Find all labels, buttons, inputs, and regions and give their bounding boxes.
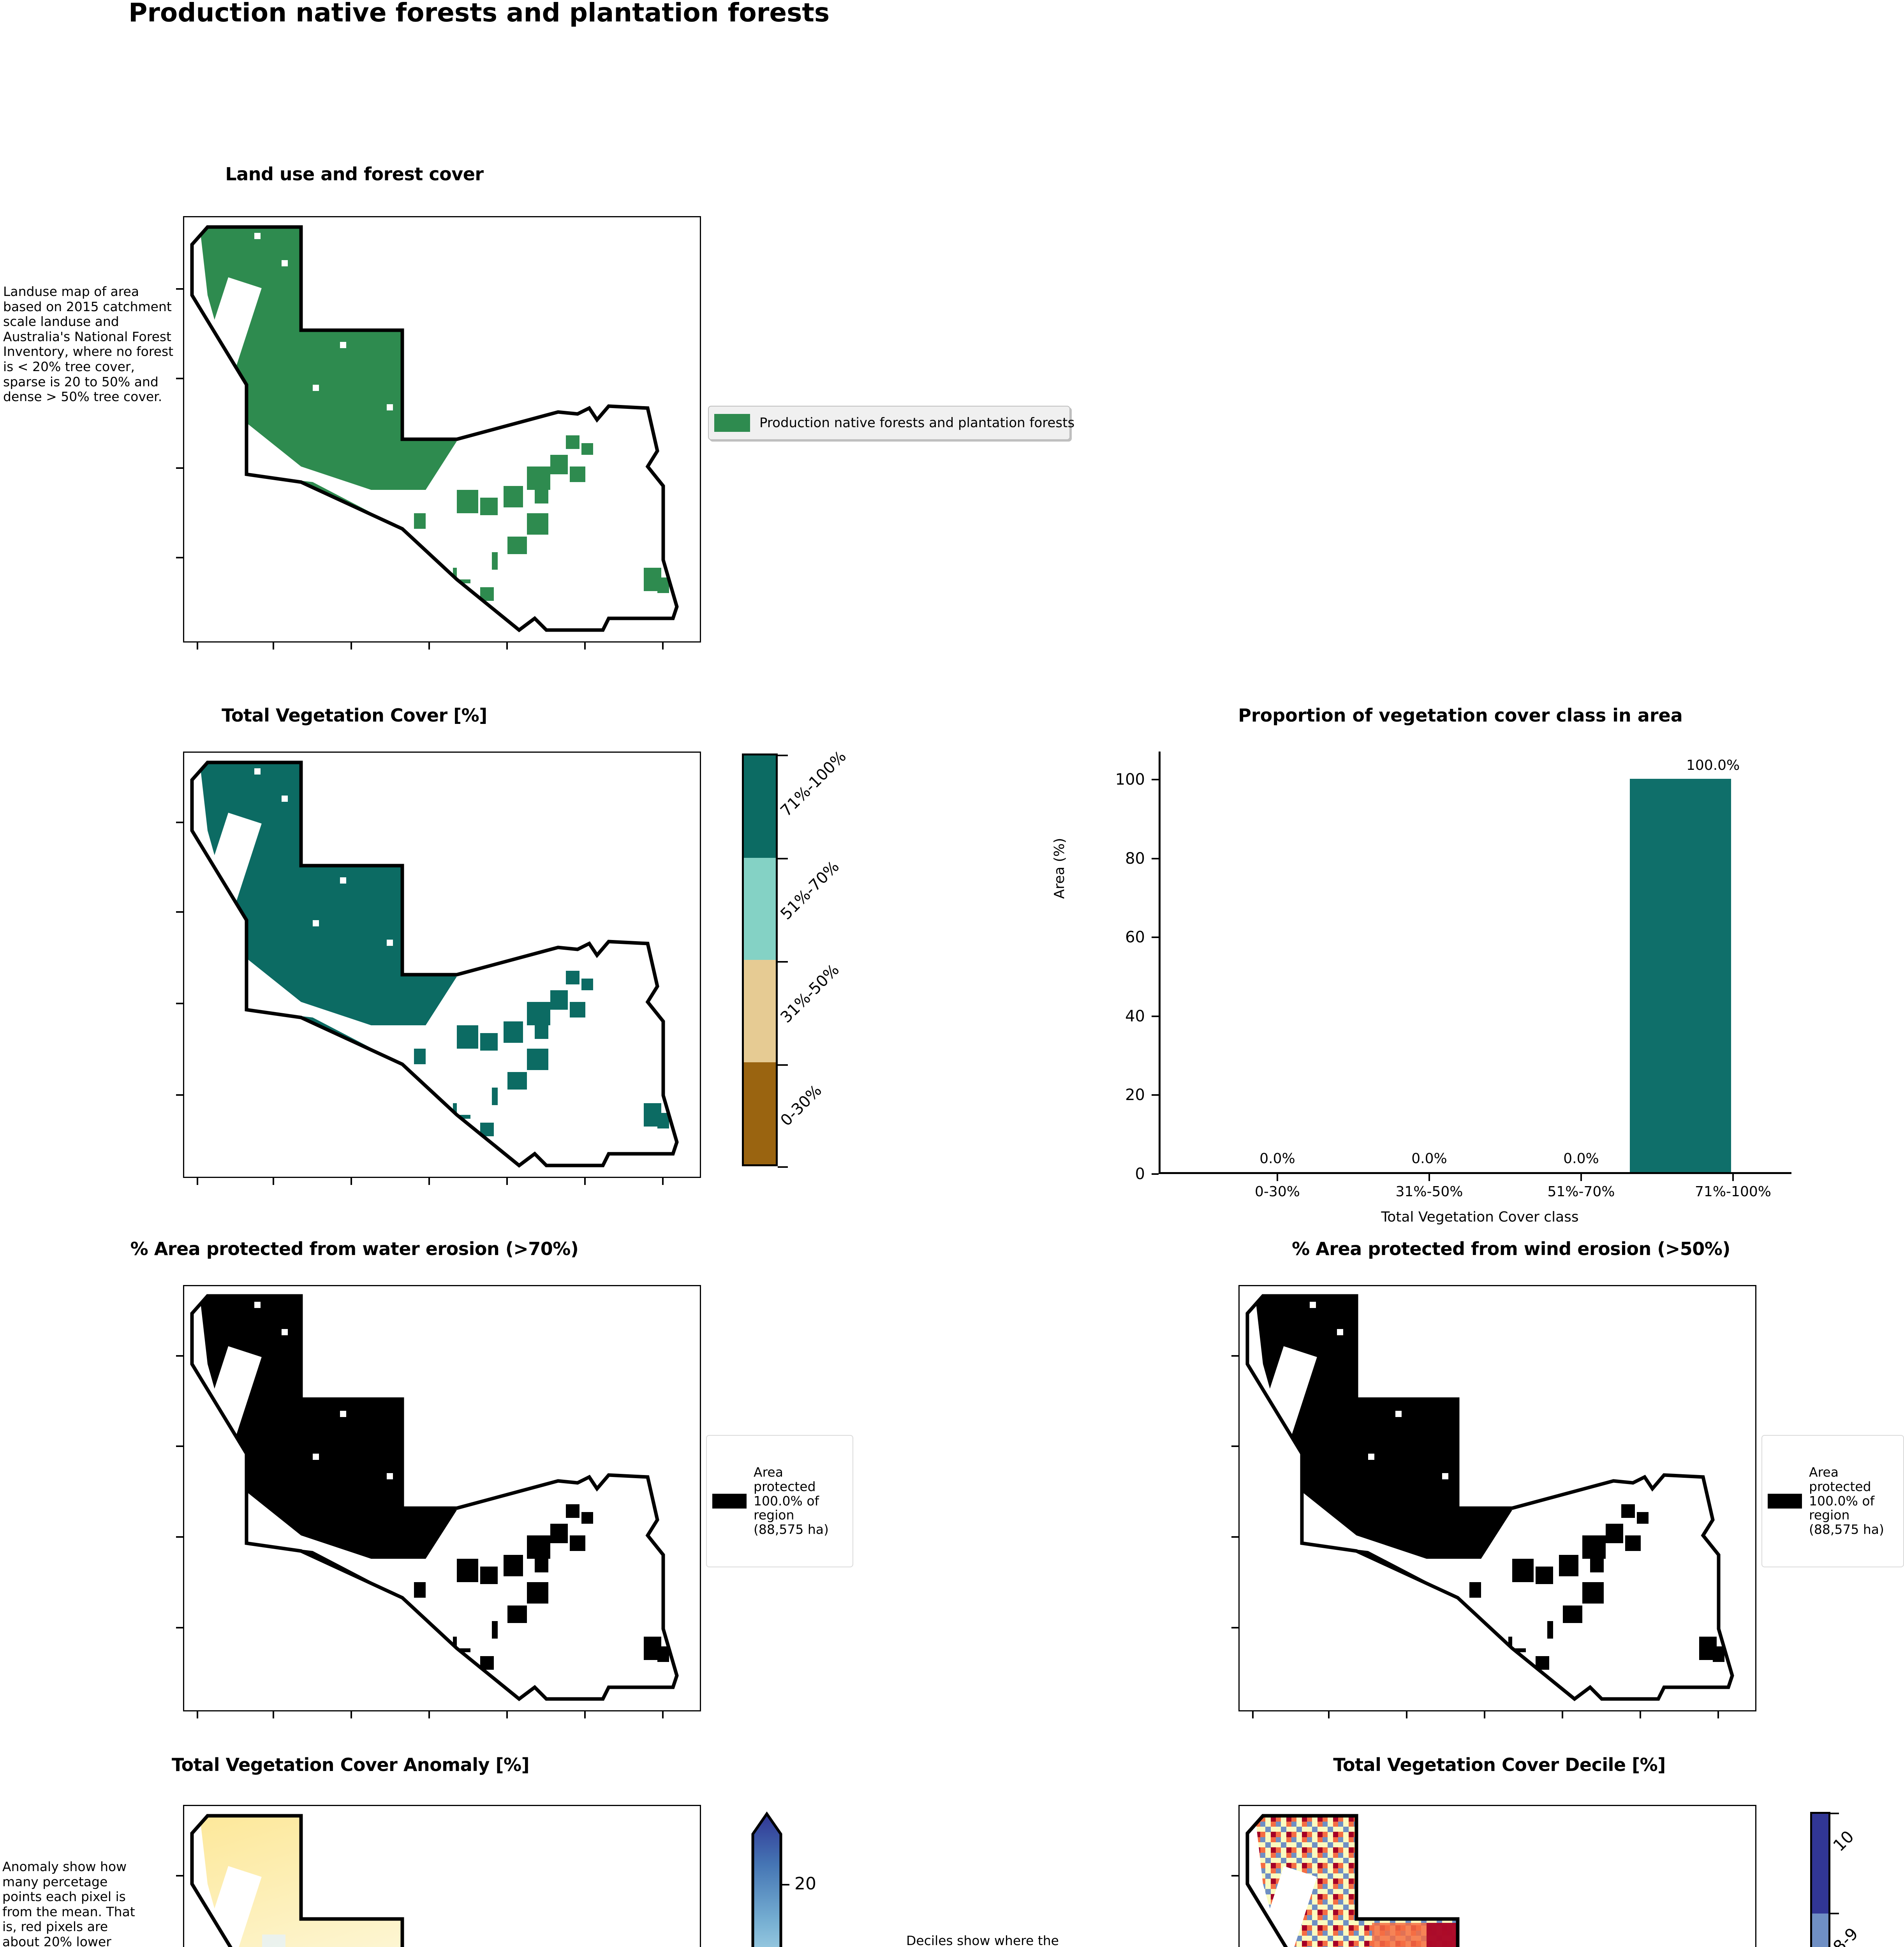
bar-chart-xlabel-0: 0-30% xyxy=(1207,1184,1347,1200)
wind-erosion-legend-label: Area protected 100.0% of region (88,575 … xyxy=(1809,1465,1893,1537)
landuse-map-axes xyxy=(183,216,701,643)
landuse-panel-title: Land use and forest cover xyxy=(62,164,646,185)
wind-erosion-legend-swatch xyxy=(1768,1494,1802,1509)
tvc-panel-title: Total Vegetation Cover [%] xyxy=(62,705,646,726)
tvc-colorbar-label-31-50: 31%-50% xyxy=(777,961,842,1026)
water-erosion-map-axes xyxy=(183,1285,701,1711)
decile-colorbar-seg-8-9 xyxy=(1812,1914,1828,1947)
anomaly-note: Anomaly show how many percetage points e… xyxy=(2,1859,143,1947)
anomaly-colorbar-tick-20: 20 xyxy=(794,1874,816,1894)
decile-colorbar-seg-10 xyxy=(1812,1814,1828,1914)
decile-map-axes xyxy=(1238,1805,1756,1947)
bar-chart-xlabel-1: 31%-50% xyxy=(1359,1184,1499,1200)
tvc-colorbar-label-0-30: 0-30% xyxy=(777,1081,825,1130)
tvc-colorbar-seg-71-100 xyxy=(744,755,776,858)
bar-chart-ytick-100: 100 xyxy=(1102,771,1145,789)
wind-erosion-legend[interactable]: Area protected 100.0% of region (88,575 … xyxy=(1761,1435,1904,1567)
decile-panel-title: Total Vegetation Cover Decile [%] xyxy=(1207,1754,1791,1775)
anomaly-colorbar[interactable] xyxy=(750,1811,796,1947)
bar-value-label-3: 100.0% xyxy=(1686,757,1827,773)
landuse-map xyxy=(184,217,700,641)
landuse-legend-label: Production native forests and plantation… xyxy=(759,415,1074,431)
bar-chart-title: Proportion of vegetation cover class in … xyxy=(1149,705,1772,726)
tvc-colorbar-seg-0-30 xyxy=(744,1062,776,1165)
bar-chart-ytick-20: 20 xyxy=(1102,1086,1145,1104)
bar-chart-ytick-60: 60 xyxy=(1102,928,1145,946)
decile-note: Deciles show where the pixel value lies … xyxy=(906,1933,1081,1947)
bar-chart-ytick-80: 80 xyxy=(1102,850,1145,868)
water-erosion-map xyxy=(184,1286,700,1710)
bar-chart-xlabel-3: 71%-100% xyxy=(1663,1184,1803,1200)
forest-area-central xyxy=(247,474,441,607)
tvc-map xyxy=(184,753,700,1177)
water-erosion-legend-swatch xyxy=(712,1494,747,1509)
tvc-colorbar-label-51-70: 51%-70% xyxy=(777,858,842,923)
wind-erosion-map xyxy=(1240,1286,1755,1710)
anomaly-panel-title: Total Vegetation Cover Anomaly [%] xyxy=(47,1754,654,1775)
tvc-colorbar-label-71-100: 71%-100% xyxy=(777,748,849,820)
bar-chart-ytick-0: 0 xyxy=(1102,1165,1145,1183)
tvc-colorbar-seg-51-70 xyxy=(744,858,776,960)
wind-erosion-map-axes xyxy=(1238,1285,1756,1711)
bar-71-100[interactable] xyxy=(1630,779,1731,1172)
tvc-map-axes xyxy=(183,752,701,1178)
bar-chart-x-axis-label: Total Vegetation Cover class xyxy=(1285,1209,1675,1225)
bar-value-label-1: 0.0% xyxy=(1359,1151,1499,1167)
decile-colorbar[interactable] xyxy=(1810,1812,1830,1947)
bar-value-label-2: 0.0% xyxy=(1511,1151,1651,1167)
water-erosion-legend[interactable]: Area protected 100.0% of region (88,575 … xyxy=(706,1435,853,1567)
water-erosion-legend-label: Area protected 100.0% of region (88,575 … xyxy=(754,1465,841,1537)
anomaly-colorbar-body xyxy=(753,1814,781,1947)
bar-chart-y-axis-label: Area (%) xyxy=(1052,810,1067,927)
decile-colorbar-label-10: 10 xyxy=(1829,1827,1857,1855)
anomaly-map xyxy=(184,1806,700,1947)
bar-chart-ytick-40: 40 xyxy=(1102,1007,1145,1025)
anomaly-map-axes xyxy=(183,1805,701,1947)
forest-legend-swatch xyxy=(714,414,750,432)
bar-value-label-0: 0.0% xyxy=(1207,1151,1347,1167)
page-title: Production native forests and plantation… xyxy=(129,0,1297,28)
tvc-colorbar[interactable] xyxy=(742,753,778,1166)
bar-chart-xlabel-2: 51%-70% xyxy=(1511,1184,1651,1200)
landuse-note: Landuse map of area based on 2015 catchm… xyxy=(3,284,174,405)
wind-erosion-panel-title: % Area protected from wind erosion (>50%… xyxy=(1219,1238,1803,1259)
bar-chart-plot-area xyxy=(1159,752,1791,1174)
landuse-legend[interactable]: Production native forests and plantation… xyxy=(708,406,1070,440)
tvc-colorbar-seg-31-50 xyxy=(744,960,776,1062)
water-erosion-panel-title: % Area protected from water erosion (>70… xyxy=(62,1238,646,1259)
decile-colorbar-label-8-9: 8-9 xyxy=(1829,1924,1862,1947)
decile-map xyxy=(1240,1806,1755,1947)
